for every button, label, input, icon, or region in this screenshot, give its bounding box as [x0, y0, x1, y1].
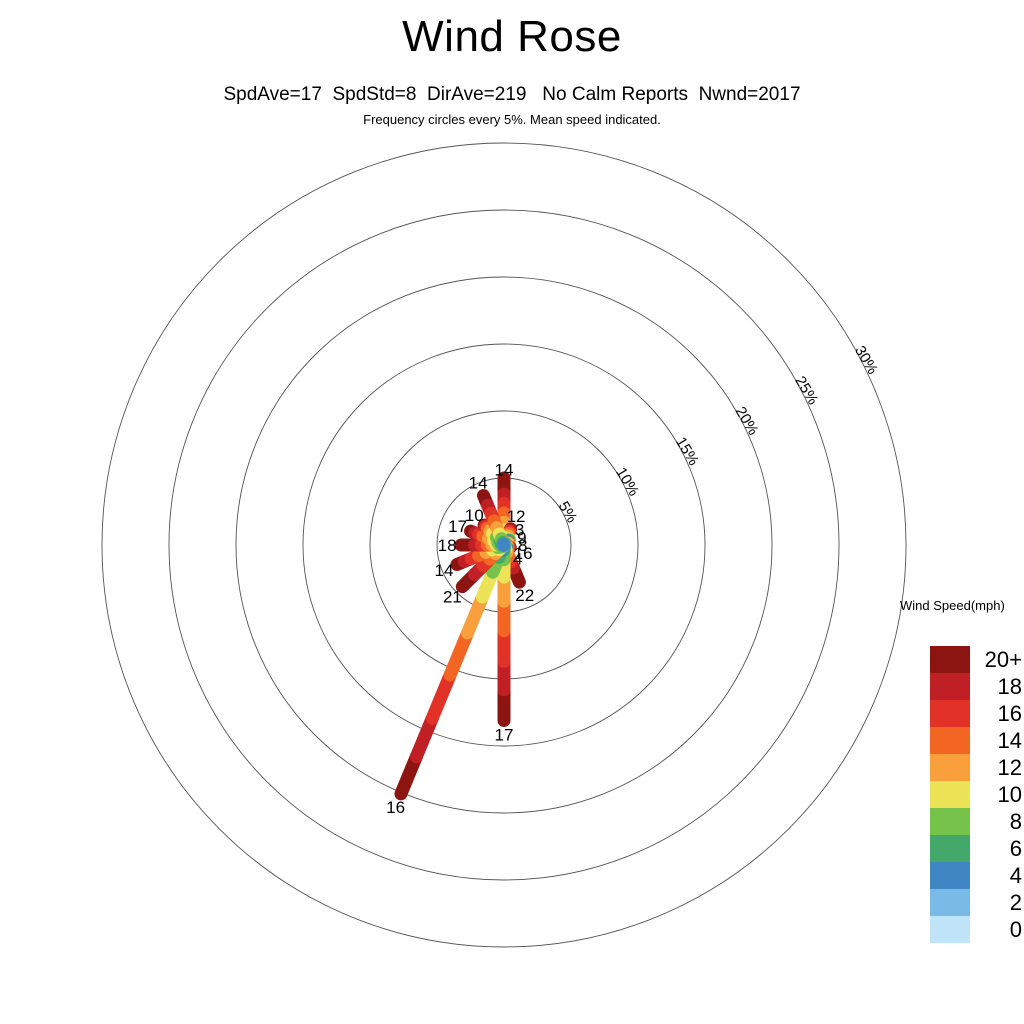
petal-SSW: [401, 545, 504, 794]
petal-mean-speed-label: 4: [513, 550, 522, 569]
legend-label: 0: [970, 916, 1022, 943]
legend-row: 16: [930, 700, 1022, 727]
petal-mean-speed-label: 10: [465, 506, 484, 525]
legend-label: 4: [970, 862, 1022, 889]
legend-label: 10: [970, 781, 1022, 808]
legend-swatch: [930, 835, 970, 862]
legend-label: 18: [970, 673, 1022, 700]
legend-swatch: [930, 646, 970, 673]
legend: Wind Speed(mph) 20+181614121086420: [900, 598, 1024, 613]
legend-swatch: [930, 889, 970, 916]
petal-segment: [450, 633, 467, 675]
ring-label: 15%: [672, 434, 702, 468]
legend-label: 2: [970, 889, 1022, 916]
legend-label: 16: [970, 700, 1022, 727]
legend-row: 6: [930, 835, 1022, 862]
legend-swatch: [930, 673, 970, 700]
petal-mean-speed-label: 18: [438, 536, 457, 555]
petal-segment: [432, 675, 450, 718]
legend-row: 20+: [930, 646, 1022, 673]
legend-row: 12: [930, 754, 1022, 781]
legend-swatch: [930, 727, 970, 754]
legend-swatch: [930, 700, 970, 727]
legend-swatch: [930, 862, 970, 889]
ring-label: 25%: [791, 373, 821, 407]
legend-row: 10: [930, 781, 1022, 808]
legend-label: 8: [970, 808, 1022, 835]
legend-swatch: [930, 808, 970, 835]
legend-row: 18: [930, 673, 1022, 700]
legend-title: Wind Speed(mph): [900, 598, 1024, 613]
legend-row: 4: [930, 862, 1022, 889]
petal-mean-speed-label: 14: [495, 460, 514, 479]
legend-label: 14: [970, 727, 1022, 754]
ring-label: 30%: [851, 343, 881, 377]
wind-rose-plot: 5%10%15%20%25%30% 1412398164221716211418…: [0, 0, 1024, 1024]
ring-label: 10%: [612, 465, 642, 499]
legend-swatch: [930, 916, 970, 943]
petal-mean-speed-label: 21: [443, 588, 462, 607]
petal-mean-speed-label: 14: [435, 561, 454, 580]
legend-row: 0: [930, 916, 1022, 943]
legend-label: 12: [970, 754, 1022, 781]
legend-label: 20+: [970, 646, 1022, 673]
petal-mean-speed-label: 22: [515, 586, 534, 605]
legend-swatch: [930, 754, 970, 781]
legend-row: 14: [930, 727, 1022, 754]
legend-entries: 20+181614121086420: [930, 646, 1022, 943]
petal-mean-speed-label: 14: [469, 474, 488, 493]
ring-label: 20%: [732, 404, 762, 438]
legend-swatch: [930, 781, 970, 808]
legend-label: 6: [970, 835, 1022, 862]
petal-mean-speed-label: 16: [386, 798, 405, 817]
legend-row: 2: [930, 889, 1022, 916]
ring-label: 5%: [555, 499, 581, 526]
legend-row: 8: [930, 808, 1022, 835]
wind-rose-page: Wind Rose SpdAve=17 SpdStd=8 DirAve=219 …: [0, 0, 1024, 1024]
petal-mean-speed-label: 17: [495, 726, 514, 745]
